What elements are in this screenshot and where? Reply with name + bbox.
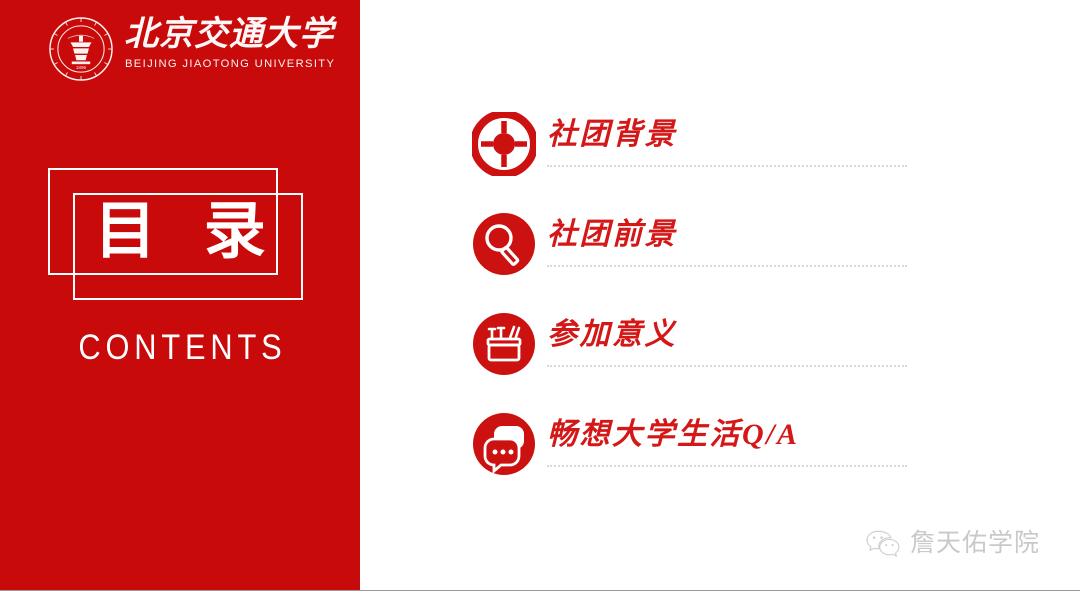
university-logo: 1896 北京交通大学 BEIJING JIAOTONG UNIVERSITY <box>48 14 298 86</box>
contents-item-2-rule <box>547 265 907 267</box>
wechat-account-name: 詹天佑学院 <box>910 529 1040 559</box>
logo-name-cn: 北京交通大学 <box>124 12 304 58</box>
toolbox-icon <box>472 312 536 376</box>
logo-name-en: BEIJING JIAOTONG UNIVERSITY <box>125 58 335 70</box>
contents-item-1[interactable]: 社团背景 <box>472 112 912 212</box>
contents-item-2-label: 社团前景 <box>547 215 677 255</box>
wechat-icon <box>866 529 900 559</box>
svg-text:1896: 1896 <box>76 65 87 70</box>
contents-item-4-text: 畅想大学生活Q/A <box>547 412 912 476</box>
contents-item-1-label: 社团背景 <box>547 115 677 155</box>
page-title: 目 录 <box>0 180 360 284</box>
page-title-en: CONTENTS <box>22 328 339 368</box>
contents-item-3[interactable]: 参加意义 <box>472 312 912 412</box>
contents-item-3-label: 参加意义 <box>547 315 677 355</box>
contents-title-block: 目 录 CONTENTS <box>0 168 360 388</box>
contents-item-4[interactable]: 畅想大学生活Q/A <box>472 412 912 512</box>
contents-item-4-label: 畅想大学生活Q/A <box>547 415 800 455</box>
chat-bubbles-icon <box>472 412 536 476</box>
lifebuoy-icon <box>472 112 536 176</box>
contents-item-3-rule <box>547 365 907 367</box>
contents-item-3-text: 参加意义 <box>547 312 912 376</box>
contents-item-1-text: 社团背景 <box>547 112 912 176</box>
presentation-slide: 1896 北京交通大学 BEIJING JIAOTONG UNIVERSITY … <box>0 0 1080 591</box>
contents-item-2-text: 社团前景 <box>547 212 912 276</box>
magnifier-icon <box>472 212 536 276</box>
contents-item-4-rule <box>547 465 907 467</box>
contents-item-2[interactable]: 社团前景 <box>472 212 912 312</box>
contents-item-1-rule <box>547 165 907 167</box>
university-seal-icon: 1896 <box>48 16 114 82</box>
wechat-footer: 詹天佑学院 <box>866 524 1040 564</box>
contents-list: 社团背景 社团前景 <box>472 112 912 512</box>
logo-wordmark: 北京交通大学 BEIJING JIAOTONG UNIVERSITY <box>124 14 304 86</box>
